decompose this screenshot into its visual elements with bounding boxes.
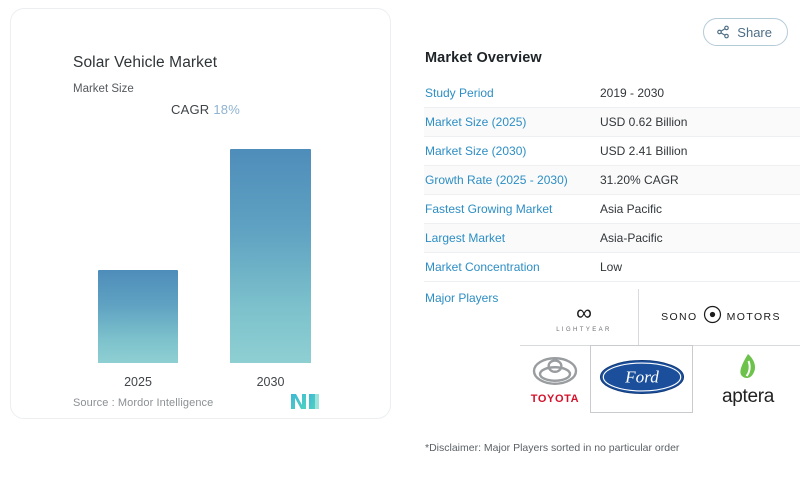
logo-cell-aptera: aptera bbox=[696, 349, 800, 411]
bar-label-2025: 2025 bbox=[98, 375, 178, 389]
row-key: Market Size (2030) bbox=[424, 144, 600, 158]
row-value: 31.20% CAGR bbox=[600, 173, 679, 187]
logo-cell-sono-motors: SONO MOTORS bbox=[642, 297, 800, 337]
logo-cell-lightyear: ∞ LIGHTYEAR bbox=[530, 289, 638, 345]
bar-2030 bbox=[230, 149, 311, 363]
row-value: Low bbox=[600, 260, 622, 274]
table-row: Largest Market Asia-Pacific bbox=[424, 224, 800, 253]
row-key: Growth Rate (2025 - 2030) bbox=[424, 173, 600, 187]
row-key: Study Period bbox=[424, 86, 600, 100]
market-overview-panel: Share Market Overview Study Period 2019 … bbox=[412, 0, 800, 482]
lightyear-wordmark: LIGHTYEAR bbox=[556, 327, 612, 333]
toyota-wordmark: TOYOTA bbox=[531, 393, 579, 405]
mordor-intelligence-logo bbox=[289, 390, 321, 412]
grid-divider-vertical-top bbox=[638, 289, 639, 345]
overview-table: Study Period 2019 - 2030 Market Size (20… bbox=[424, 79, 800, 316]
lightyear-infinity-icon: ∞ bbox=[576, 302, 592, 324]
aptera-leaf-icon bbox=[737, 354, 759, 387]
table-row: Market Size (2025) USD 0.62 Billion bbox=[424, 108, 800, 137]
share-button-label: Share bbox=[737, 25, 772, 40]
row-value: Asia-Pacific bbox=[600, 231, 663, 245]
share-button[interactable]: Share bbox=[703, 18, 788, 46]
chart-card: Solar Vehicle Market Market Size CAGR18%… bbox=[10, 8, 391, 419]
share-icon bbox=[716, 25, 730, 39]
bar-chart-plot: 2025 2030 bbox=[11, 9, 391, 419]
sono-wordmark-right: MOTORS bbox=[727, 311, 781, 323]
row-value: 2019 - 2030 bbox=[600, 86, 664, 100]
row-value: USD 2.41 Billion bbox=[600, 144, 687, 158]
bar-2025 bbox=[98, 270, 178, 363]
table-row: Fastest Growing Market Asia Pacific bbox=[424, 195, 800, 224]
toyota-emblem-icon bbox=[532, 356, 578, 391]
source-attribution: Source : Mordor Intelligence bbox=[73, 397, 213, 409]
major-players-grid: ∞ LIGHTYEAR SONO MOTORS bbox=[520, 289, 800, 413]
row-key: Market Concentration bbox=[424, 260, 600, 274]
table-row: Growth Rate (2025 - 2030) 31.20% CAGR bbox=[424, 166, 800, 195]
screenshot-root: Solar Vehicle Market Market Size CAGR18%… bbox=[0, 0, 800, 482]
sono-dot-icon bbox=[703, 305, 722, 329]
table-row: Study Period 2019 - 2030 bbox=[424, 79, 800, 108]
row-key: Fastest Growing Market bbox=[424, 202, 600, 216]
row-key: Largest Market bbox=[424, 231, 600, 245]
panel-title: Market Overview bbox=[425, 50, 542, 66]
row-value: Asia Pacific bbox=[600, 202, 662, 216]
sono-wordmark-left: SONO bbox=[661, 311, 698, 323]
row-key: Market Size (2025) bbox=[424, 115, 600, 129]
table-row: Market Concentration Low bbox=[424, 253, 800, 282]
bar-label-2030: 2030 bbox=[230, 375, 311, 389]
row-value: USD 0.62 Billion bbox=[600, 115, 687, 129]
disclaimer-text: *Disclaimer: Major Players sorted in no … bbox=[425, 442, 679, 454]
logo-cell-toyota: TOYOTA bbox=[520, 349, 590, 411]
aptera-wordmark: aptera bbox=[722, 387, 774, 406]
ford-oval-icon: Ford bbox=[599, 359, 685, 400]
ford-wordmark: Ford bbox=[624, 367, 659, 386]
table-row: Market Size (2030) USD 2.41 Billion bbox=[424, 137, 800, 166]
ford-emblem-wrap: Ford bbox=[590, 345, 693, 413]
